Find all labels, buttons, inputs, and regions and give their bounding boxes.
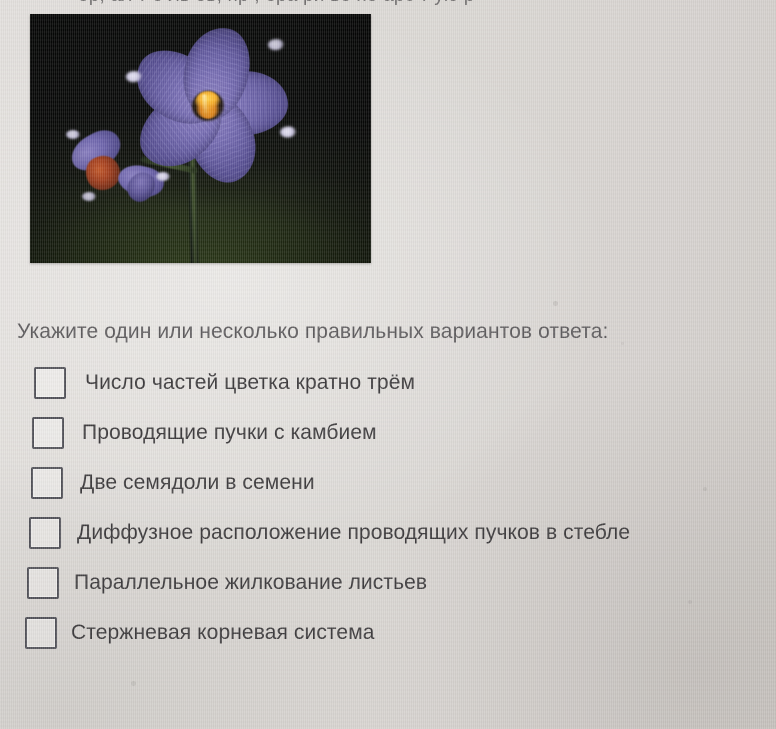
- answer-option-6[interactable]: Стержневая корневая система: [0, 608, 776, 658]
- clipped-top-text: ор, ал т о ль ов, пр , ера ри ве по арс …: [0, 0, 776, 11]
- quiz-screen: ор, ал т о ль ов, пр , ера ри ве по арс …: [0, 0, 776, 729]
- answer-option-3[interactable]: Две семядоли в семени: [0, 458, 776, 508]
- checkbox-option-1[interactable]: [34, 367, 66, 399]
- answer-option-5[interactable]: Параллельное жилкование листьев: [0, 558, 776, 608]
- photo-vignette: [30, 14, 371, 263]
- answer-option-4-label: Диффузное расположение проводящих пучков…: [77, 521, 630, 545]
- answer-option-1-label: Число частей цветка кратно трём: [85, 371, 415, 395]
- answer-option-6-label: Стержневая корневая система: [71, 621, 375, 645]
- answer-option-2[interactable]: Проводящие пучки с камбием: [0, 408, 776, 458]
- answer-option-4[interactable]: Диффузное расположение проводящих пучков…: [0, 508, 776, 558]
- answer-option-2-label: Проводящие пучки с камбием: [82, 421, 377, 445]
- dust-speck: [688, 600, 692, 604]
- dust-speck: [131, 681, 136, 686]
- dust-speck: [553, 301, 558, 306]
- clipped-top-text-value: ор, ал т о ль ов, пр , ера ри ве по арс …: [0, 0, 776, 7]
- answer-options-list: Число частей цветка кратно трём Проводящ…: [0, 358, 776, 658]
- answer-option-3-label: Две семядоли в семени: [80, 471, 315, 495]
- checkbox-option-4[interactable]: [29, 517, 61, 549]
- checkbox-option-5[interactable]: [27, 567, 59, 599]
- flower-photo-canvas: [30, 14, 371, 263]
- checkbox-option-2[interactable]: [32, 417, 64, 449]
- dust-speck: [621, 342, 624, 345]
- checkbox-option-3[interactable]: [31, 467, 63, 499]
- checkbox-option-6[interactable]: [25, 617, 57, 649]
- answer-option-5-label: Параллельное жилкование листьев: [74, 571, 427, 595]
- dust-speck: [703, 487, 707, 491]
- question-prompt: Укажите один или несколько правильных ва…: [17, 320, 608, 344]
- answer-option-1[interactable]: Число частей цветка кратно трём: [0, 358, 776, 408]
- flower-photo: [30, 14, 371, 263]
